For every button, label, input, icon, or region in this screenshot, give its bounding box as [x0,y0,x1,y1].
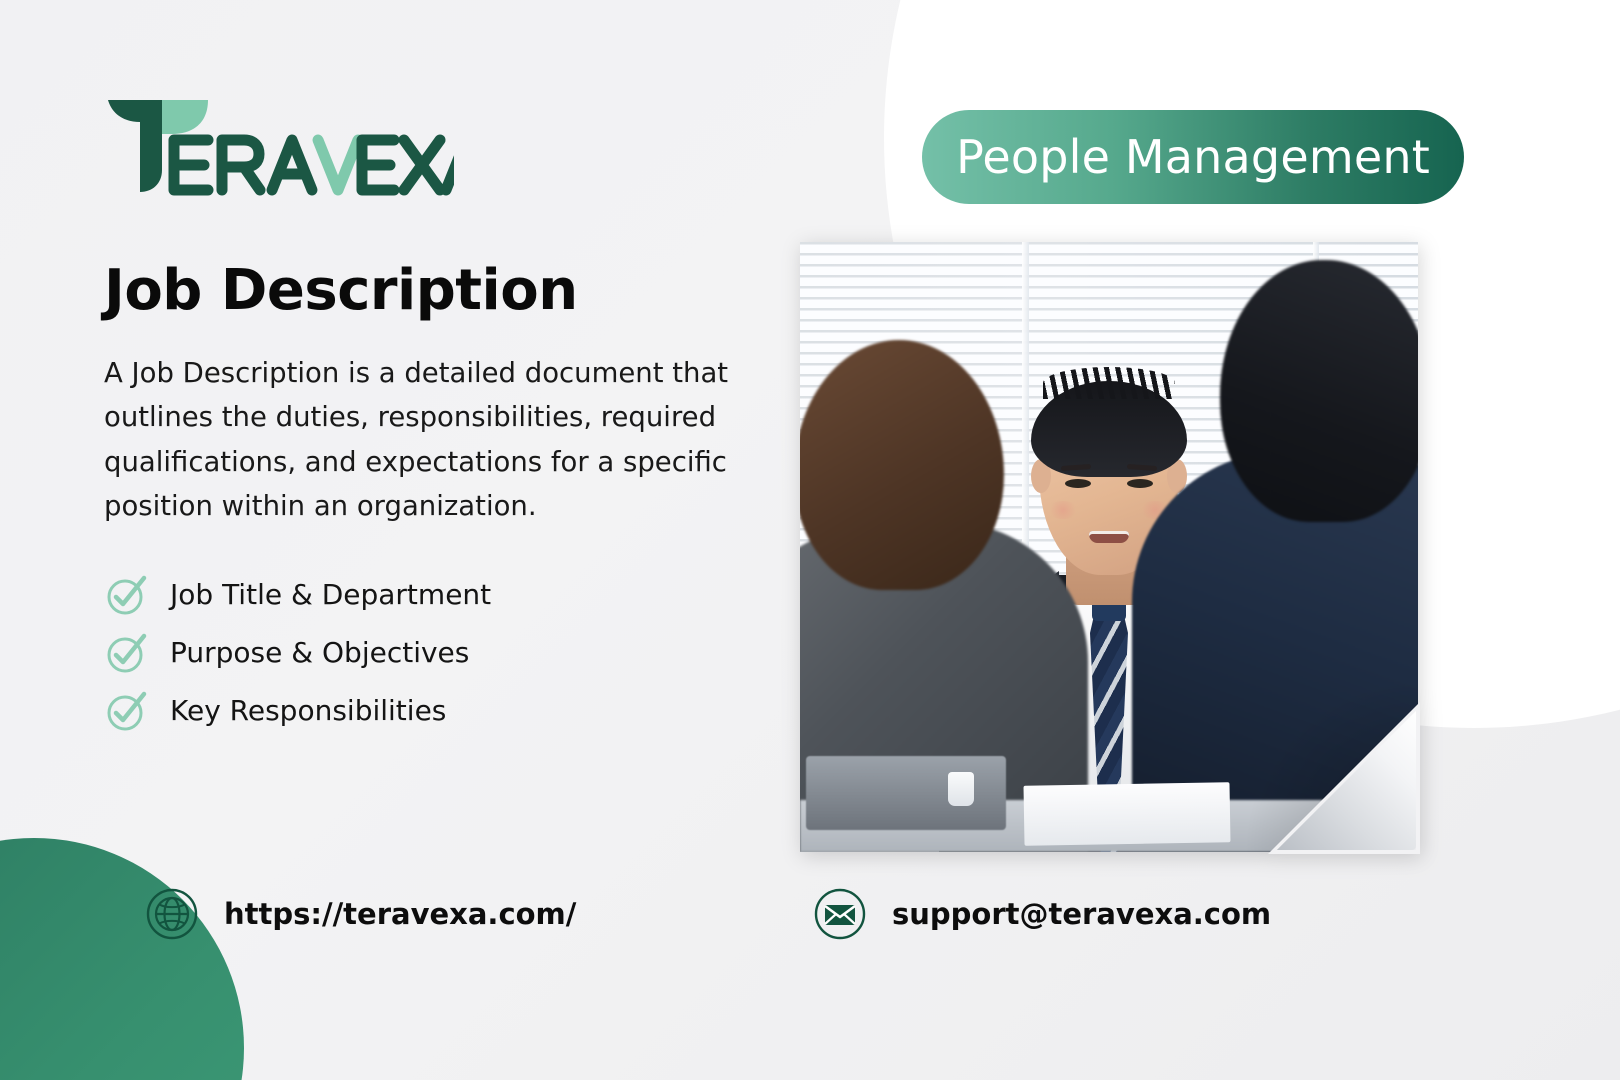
interview-photo-image [800,242,1418,852]
check-circle-icon [104,689,148,733]
list-item: Job Title & Department [104,573,784,617]
laptop [806,756,1006,830]
email-address: support@teravexa.com [892,897,1271,931]
check-circle-icon [104,573,148,617]
list-item: Key Responsibilities [104,689,784,733]
content-column: Job Description A Job Description is a d… [104,262,784,733]
feature-checklist: Job Title & Department Purpose & Objecti… [104,573,784,733]
email-contact[interactable]: support@teravexa.com [814,888,1271,940]
green-circle-decoration [0,838,244,1080]
page-title: Job Description [104,262,784,321]
paper-document [1023,782,1230,846]
envelope-icon [814,888,866,940]
teravexa-logo[interactable] [104,92,454,200]
globe-icon [146,888,198,940]
logo-mark-icon [104,92,454,200]
list-item: Purpose & Objectives [104,631,784,675]
category-badge[interactable]: People Management [922,110,1464,204]
checklist-label: Purpose & Objectives [170,638,469,669]
website-url: https://teravexa.com/ [224,897,576,931]
check-circle-icon [104,631,148,675]
page-description: A Job Description is a detailed document… [104,351,749,529]
interview-photo [800,242,1418,852]
cup [948,772,974,806]
checklist-label: Job Title & Department [170,580,491,611]
website-contact[interactable]: https://teravexa.com/ [146,888,576,940]
slide-canvas: People Management Job Description A Job … [0,0,1620,1080]
checklist-label: Key Responsibilities [170,696,446,727]
category-badge-label: People Management [956,130,1430,184]
